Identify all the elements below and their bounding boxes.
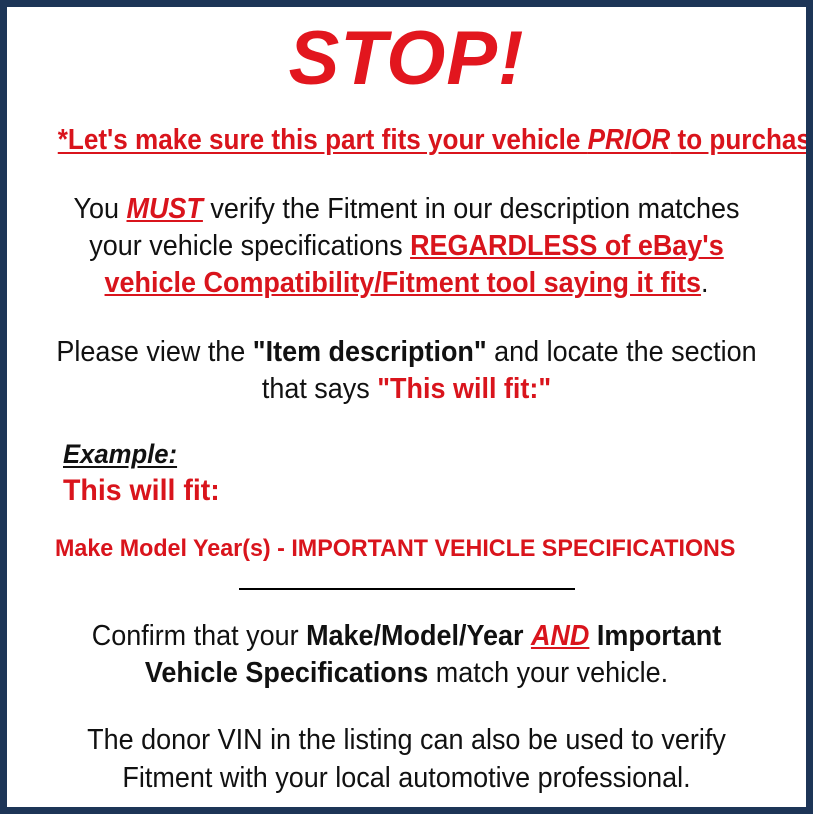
page-title: STOP!: [19, 21, 794, 97]
para3-emphasis-make-model-year: Make/Model/Year: [306, 620, 523, 652]
paragraph-donor-vin: The donor VIN in the listing can also be…: [46, 722, 767, 796]
paragraph-item-description: Please view the "Item description" and l…: [46, 334, 767, 408]
paragraph-must-verify: You MUST verify the Fitment in our descr…: [46, 191, 767, 302]
example-label: Example:: [63, 440, 177, 470]
para2-emphasis-item-description: "Item description": [253, 336, 487, 368]
para1-text-before: You: [73, 193, 126, 225]
divider-wrap: [19, 588, 794, 590]
horizontal-divider: [239, 588, 575, 590]
closing-thank-you: Thank you for confirming Fitment!: [38, 811, 774, 814]
example-block: Example: This will fit: Make Model Year(…: [19, 440, 794, 562]
para3-text-after: match your vehicle.: [428, 657, 668, 689]
para4-line-2: with your local automotive professional.: [220, 762, 691, 794]
subtitle-suffix: to purchasing*: [670, 124, 813, 156]
fitment-notice-content: STOP! *Let's make sure this part fits yo…: [7, 21, 806, 814]
para3-text-before: Confirm that your: [92, 620, 306, 652]
para1-emphasis-must: MUST: [126, 193, 202, 225]
para2-emphasis-this-will-fit: "This will fit:": [377, 373, 551, 405]
para1-text-after: .: [701, 267, 708, 299]
example-fit-heading: This will fit:: [63, 474, 757, 509]
subtitle-banner: *Let's make sure this part fits your veh…: [58, 125, 756, 157]
example-spec-line: Make Model Year(s) - IMPORTANT VEHICLE S…: [55, 535, 772, 563]
para3-conjunction-and: AND: [531, 620, 589, 652]
subtitle-prefix: *Let's make sure this part fits your veh…: [58, 124, 588, 156]
fitment-notice-frame: STOP! *Let's make sure this part fits yo…: [0, 0, 813, 814]
subtitle-emphasis-prior: PRIOR: [588, 124, 671, 156]
paragraph-confirm-match: Confirm that your Make/Model/Year AND Im…: [46, 618, 767, 692]
para2-text-before: Please view the: [56, 336, 252, 368]
